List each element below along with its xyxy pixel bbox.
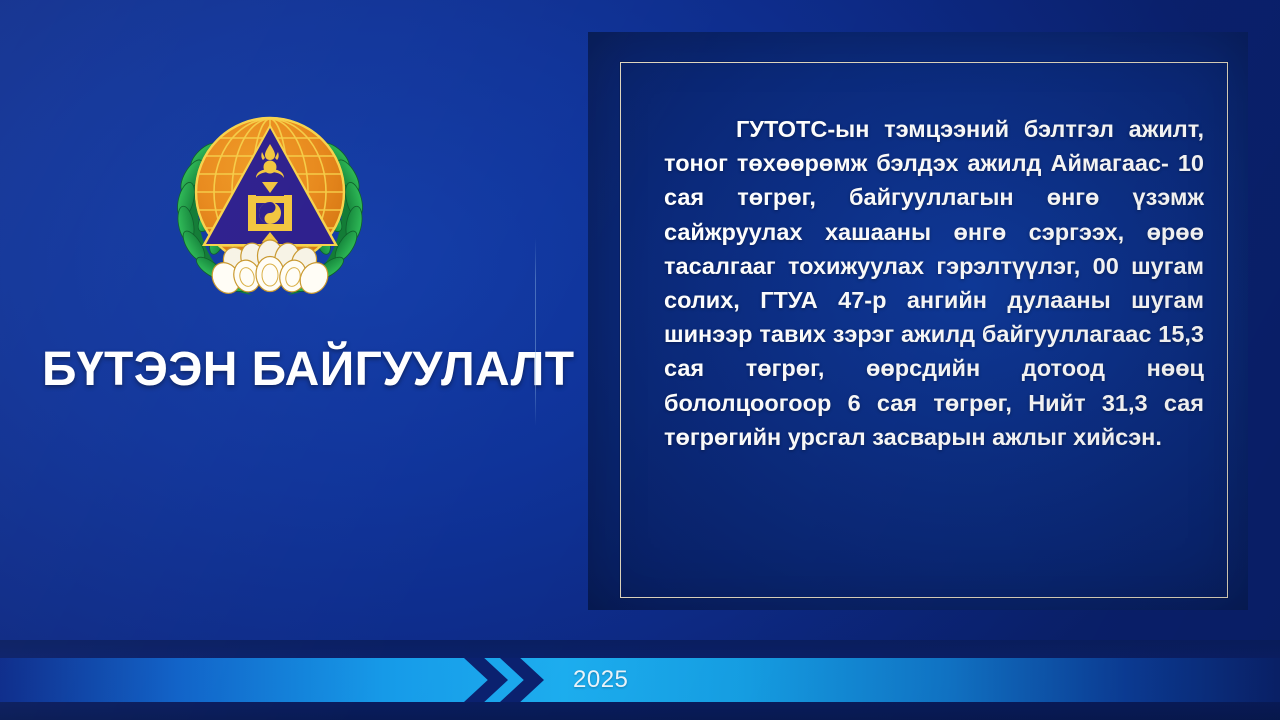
panel-body-text: ГУТОТС-ын тэмцээний бэлтгэл ажилт, тоног… [664,112,1204,454]
footer-accent-bar [0,658,1280,702]
footer-year-label: 2025 [573,658,628,702]
slide: БҮТЭЭН БАЙГУУЛАЛТ ГУТОТС-ын тэмцээний бэ… [0,0,1280,720]
vertical-divider [535,238,536,426]
left-pane: БҮТЭЭН БАЙГУУЛАЛТ [0,0,545,630]
mongolian-state-emblem-icon [152,96,388,301]
footer: 2025 [0,640,1280,720]
page-title: БҮТЭЭН БАЙГУУЛАЛТ [42,344,512,396]
